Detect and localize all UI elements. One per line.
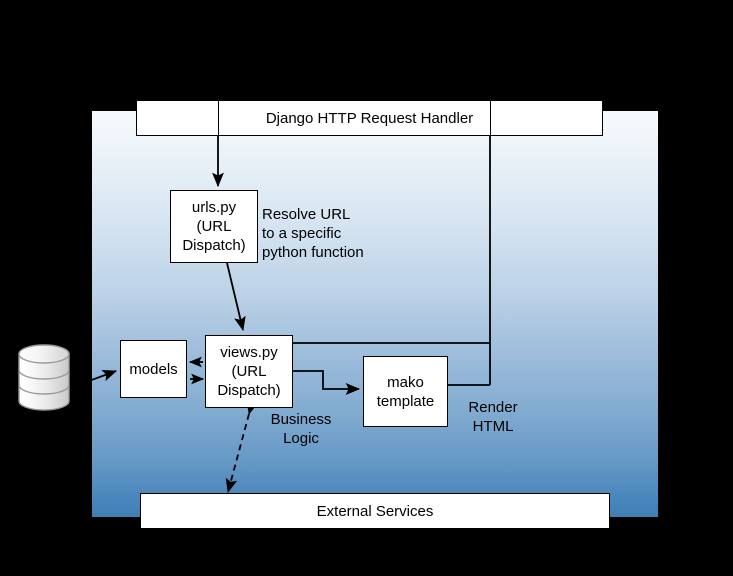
annotation-resolve-url: Resolve URL to a specific python functio…	[262, 205, 387, 262]
node-django-http-request-handler[interactable]: Django HTTP Request Handler	[136, 100, 603, 136]
node-label: urls.py (URL Dispatch)	[182, 198, 245, 255]
annotation-business-logic: Business Logic	[255, 410, 347, 448]
gradient-backdrop	[92, 111, 658, 517]
node-label: Django HTTP Request Handler	[266, 109, 473, 128]
node-label: views.py (URL Dispatch)	[217, 343, 280, 400]
node-views-py[interactable]: views.py (URL Dispatch)	[205, 335, 293, 408]
node-mako-template[interactable]: mako template	[363, 356, 448, 427]
diagram-canvas: Django HTTP Request Handler urls.py (URL…	[0, 0, 733, 576]
header-divider-left	[218, 101, 219, 137]
header-divider-right	[490, 101, 491, 137]
annotation-render-html: Render HTML	[458, 398, 528, 436]
node-urls-py[interactable]: urls.py (URL Dispatch)	[170, 190, 258, 263]
node-label: models	[129, 360, 177, 379]
database-cylinder-icon	[16, 344, 72, 412]
node-label: External Services	[317, 502, 434, 521]
node-external-services[interactable]: External Services	[140, 493, 610, 529]
node-label: mako template	[377, 373, 435, 411]
node-models[interactable]: models	[120, 340, 187, 398]
